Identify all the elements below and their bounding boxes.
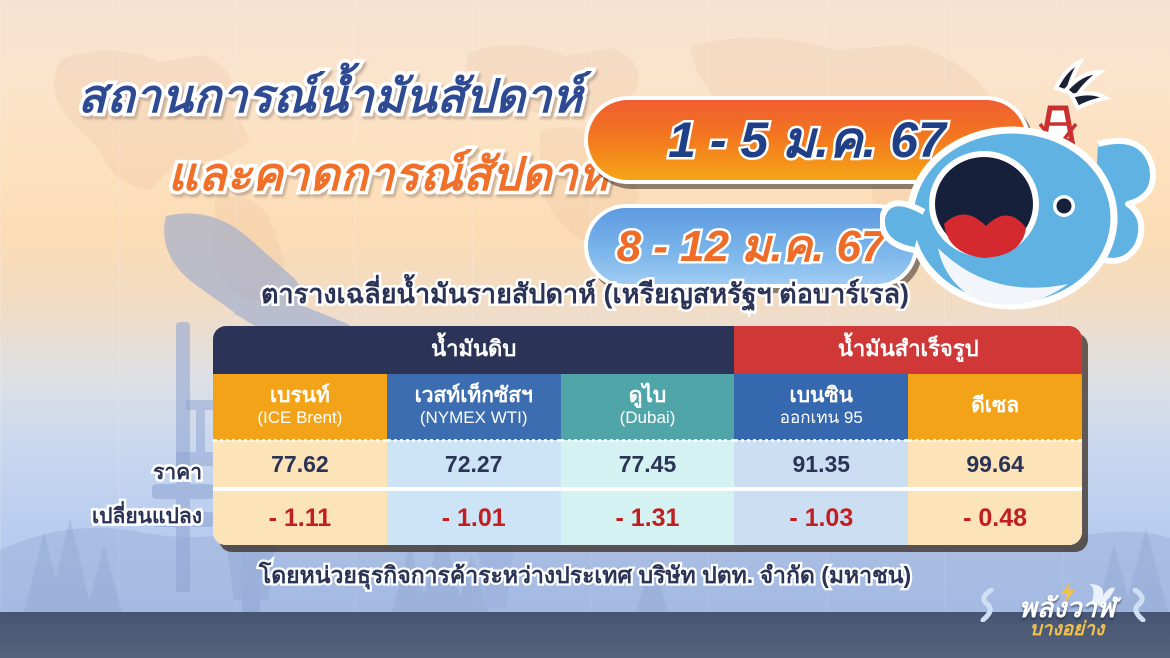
table-row-change: - 1.11 - 1.01 - 1.31 - 1.03 - 0.48 xyxy=(213,489,1082,545)
column-header-gasoline: เบนซิน ออกเทน 95 xyxy=(734,374,908,440)
table-caption: ตารางเฉลี่ยน้ำมันรายสัปดาห์ (เหรียญสหรัฐ… xyxy=(0,272,1170,315)
table-group-header-row: น้ำมันดิบ น้ำมันสำเร็จรูป xyxy=(213,326,1082,374)
brand-logo: พลังวาฬ บางอย่าง xyxy=(975,586,1155,644)
column-header-dubai: ดูไบ (Dubai) xyxy=(561,374,735,440)
change-dubai: - 1.31 xyxy=(561,489,735,545)
headline-line-2: และคาดการณ์สัปดาห์ xyxy=(168,138,609,211)
change-wti: - 1.01 xyxy=(387,489,561,545)
table-column-header-row: เบรนท์ (ICE Brent) เวสท์เท็กซัสฯ (NYMEX … xyxy=(213,374,1082,440)
logo-line-2: บางอย่าง xyxy=(997,614,1137,644)
whale-spout-icon xyxy=(1056,62,1106,108)
group-header-refined: น้ำมันสำเร็จรูป xyxy=(734,326,1082,374)
price-diesel: 99.64 xyxy=(908,440,1082,489)
whale-pupil xyxy=(1057,199,1072,214)
column-header-wti: เวสท์เท็กซัสฯ (NYMEX WTI) xyxy=(387,374,561,440)
oil-price-table: น้ำมันดิบ น้ำมันสำเร็จรูป เบรนท์ (ICE Br… xyxy=(213,326,1082,545)
change-gasoline: - 1.03 xyxy=(734,489,908,545)
table-row-price: 77.62 72.27 77.45 91.35 99.64 xyxy=(213,440,1082,489)
price-gasoline: 91.35 xyxy=(734,440,908,489)
column-header-brent: เบรนท์ (ICE Brent) xyxy=(213,374,387,440)
price-dubai: 77.45 xyxy=(561,440,735,489)
column-header-diesel: ดีเซล xyxy=(908,374,1082,440)
row-label-change: เปลี่ยนแปลง xyxy=(92,500,202,533)
row-label-price: ราคา xyxy=(153,456,202,489)
price-brent: 77.62 xyxy=(213,440,387,489)
headline-line-1: สถานการณ์น้ำมันสัปดาห์ xyxy=(78,60,583,133)
change-brent: - 1.11 xyxy=(213,489,387,545)
group-header-crude: น้ำมันดิบ xyxy=(213,326,734,374)
price-wti: 72.27 xyxy=(387,440,561,489)
change-diesel: - 0.48 xyxy=(908,489,1082,545)
